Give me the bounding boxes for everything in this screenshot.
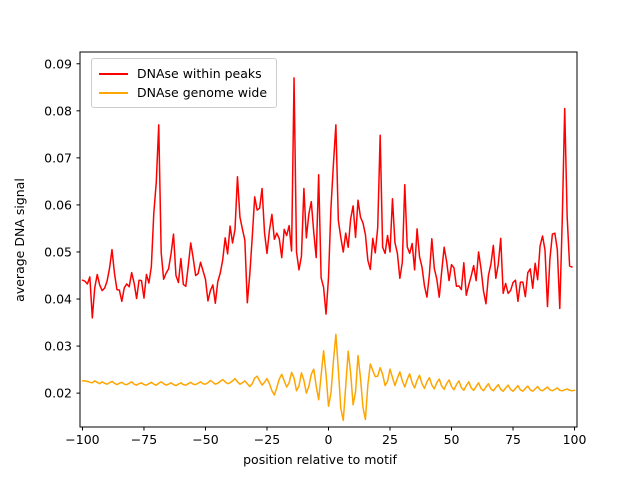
legend-label-0: DNAse within peaks: [137, 66, 262, 81]
series-line-0: [82, 78, 572, 318]
ytick-label: 0.05: [30, 244, 72, 259]
ytick-label: 0.04: [30, 292, 72, 307]
xtick-label: −100: [65, 432, 99, 447]
legend-swatch-red: [99, 73, 128, 75]
legend-item-1: DNAse genome wide: [99, 83, 267, 102]
ytick-label: 0.07: [30, 150, 72, 165]
data-series-group: [82, 78, 574, 421]
xtick-label: −25: [254, 432, 280, 447]
chart-legend: DNAse within peaks DNAse genome wide: [91, 58, 277, 108]
xtick-label: 50: [444, 432, 460, 447]
y-axis-label: average DNA signal: [12, 116, 27, 240]
chart-figure: position relative to motif average DNA s…: [0, 0, 640, 480]
y-axis-label-text: average DNA signal: [12, 178, 27, 302]
xtick-label: 100: [563, 432, 587, 447]
ytick-label: 0.02: [30, 386, 72, 401]
xtick-label: 25: [382, 432, 398, 447]
xtick-label: 75: [505, 432, 521, 447]
xtick-label: −75: [131, 432, 157, 447]
legend-swatch-orange: [99, 92, 128, 94]
ytick-label: 0.08: [30, 103, 72, 118]
ytick-label: 0.03: [30, 339, 72, 354]
ytick-label: 0.09: [30, 56, 72, 71]
legend-item-0: DNAse within peaks: [99, 64, 267, 83]
series-line-1: [82, 334, 574, 420]
axes-frame: [80, 52, 577, 427]
xtick-label: 0: [325, 432, 333, 447]
ytick-label: 0.06: [30, 197, 72, 212]
legend-label-1: DNAse genome wide: [137, 85, 267, 100]
xtick-label: −50: [192, 432, 218, 447]
x-axis-label: position relative to motif: [0, 452, 640, 467]
